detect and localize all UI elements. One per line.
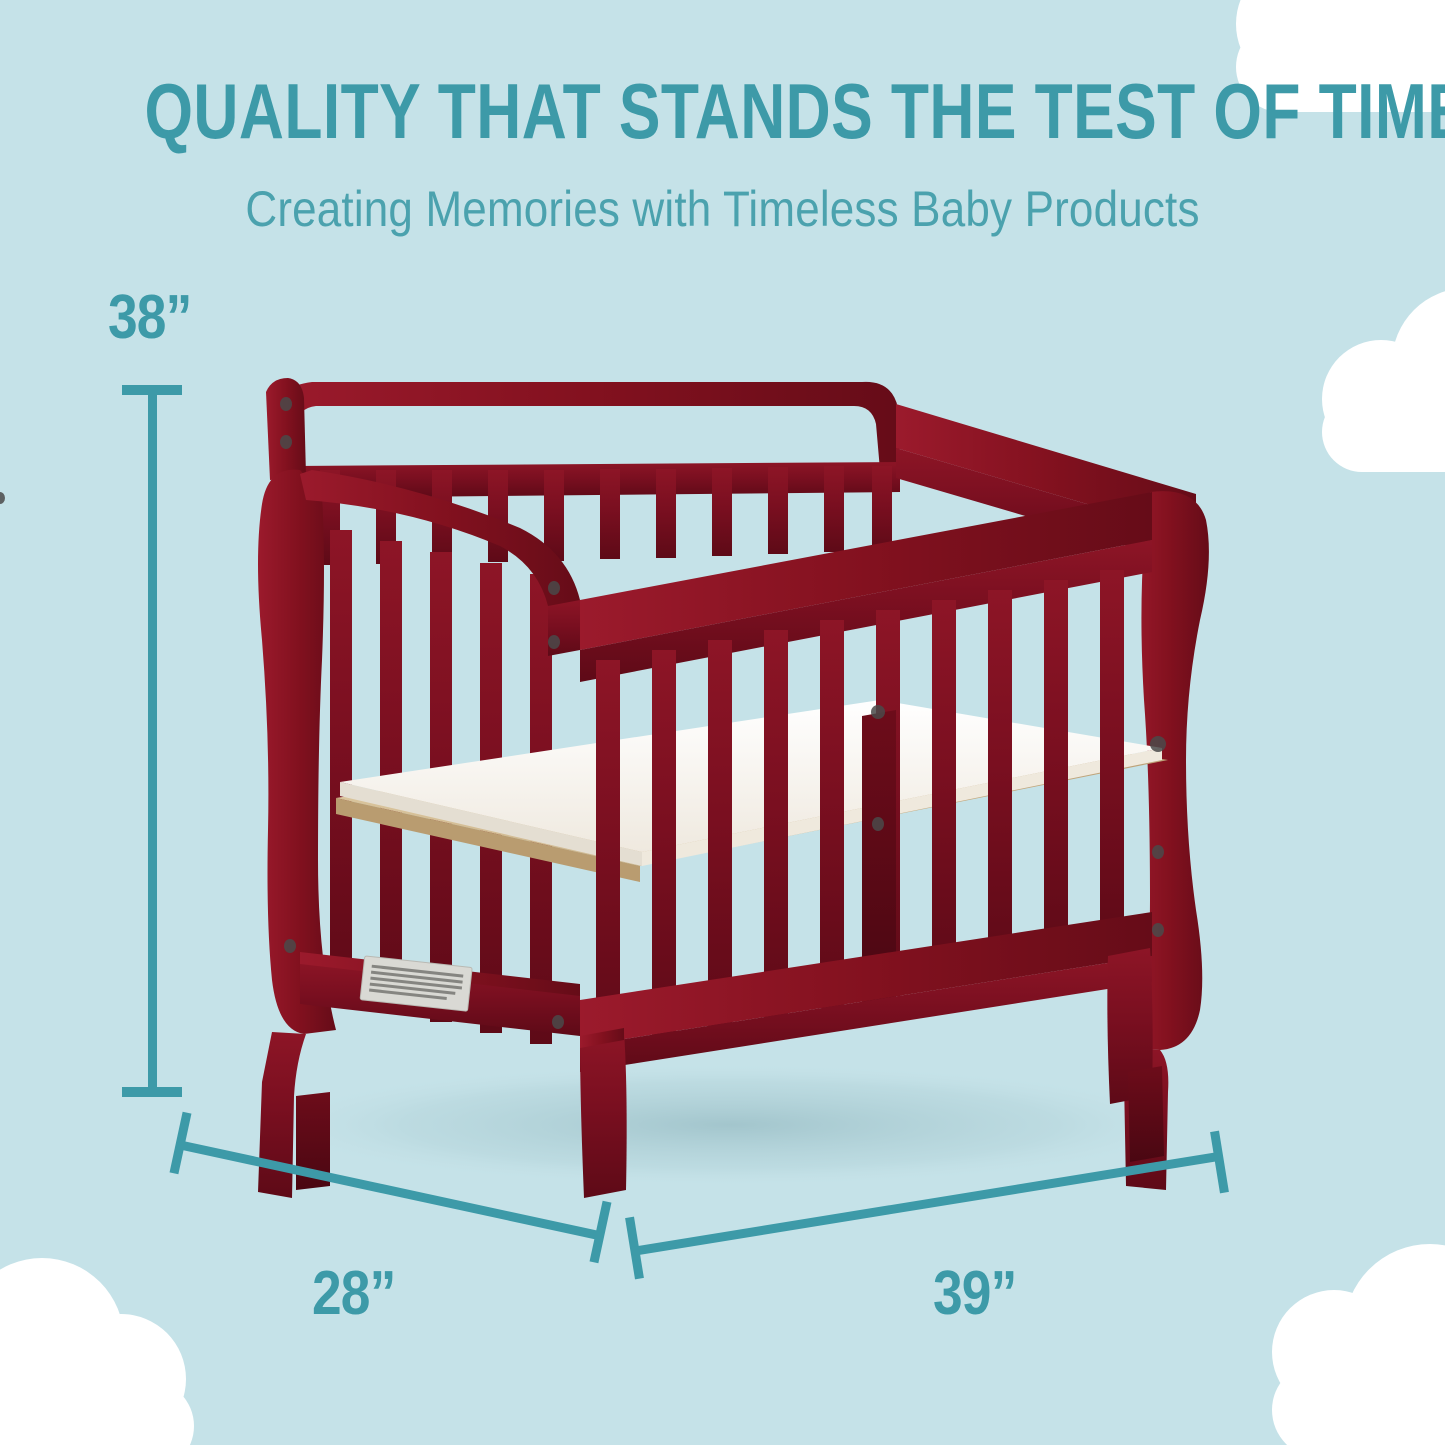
height-cap-bottom (122, 1087, 182, 1097)
height-dimension-label: 38” (108, 282, 191, 353)
height-line (148, 385, 157, 1097)
width-dimension-label: 39” (933, 1258, 1016, 1329)
width-dimension-line (632, 1155, 1222, 1255)
product-dimension-infographic: QUALITY THAT STANDS THE TEST OF TIME Cre… (0, 0, 1445, 1445)
height-dimension-line (140, 385, 164, 1097)
depth-dimension-label: 28” (312, 1258, 395, 1329)
depth-dimension-line (178, 1140, 598, 1240)
left-side-panel (258, 470, 336, 1198)
mattress-assembly (336, 700, 1168, 882)
width-line (631, 1152, 1221, 1256)
depth-line (177, 1140, 601, 1240)
